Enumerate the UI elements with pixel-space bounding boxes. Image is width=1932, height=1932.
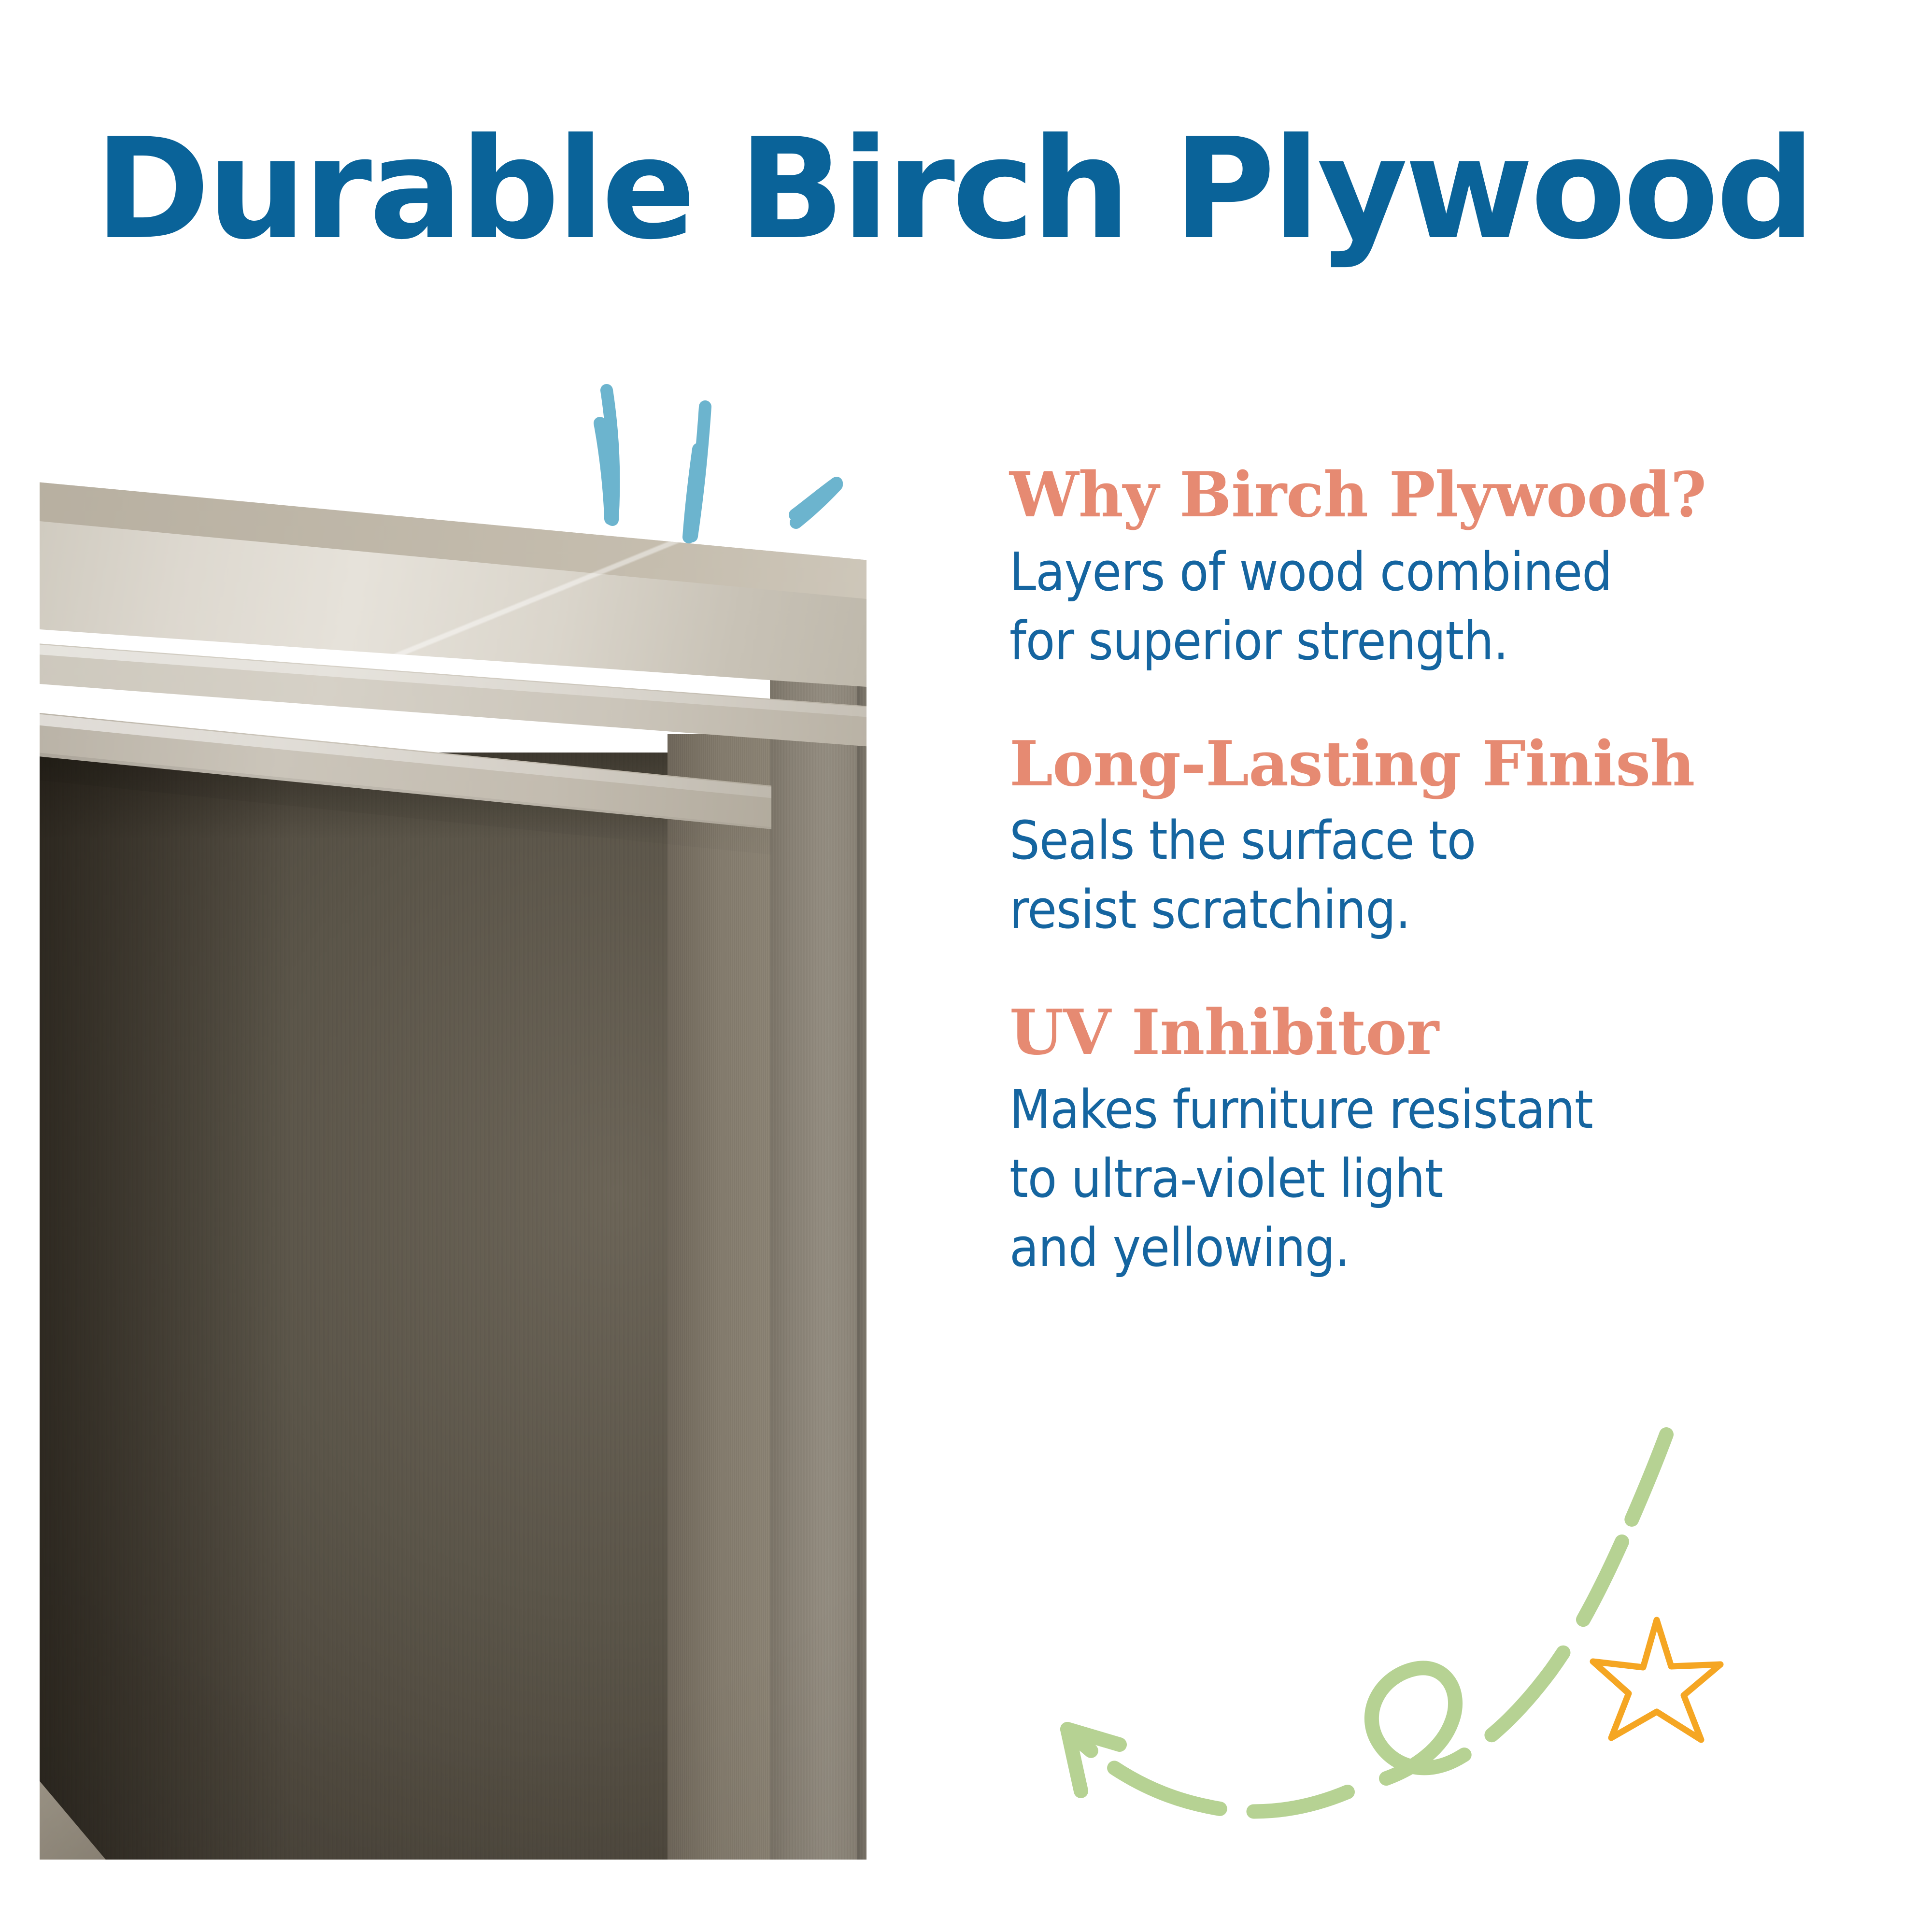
product-photo — [40, 464, 867, 1860]
sparkle-strokes-icon — [570, 382, 879, 584]
feature-body-line: Layers of wood combined — [1009, 538, 1860, 607]
feature-body: Makes furniture resistant to ultra-viole… — [1009, 1075, 1860, 1282]
cabinet-right-side-panel — [770, 609, 867, 1860]
interior-left-shadow — [40, 753, 291, 1860]
feature-heading: Long-Lasting Finish — [1009, 733, 1860, 796]
wood-grain-texture — [770, 609, 867, 1860]
feature-body-line: Seals the surface to — [1009, 806, 1860, 875]
cabinet-edge-shadow — [857, 609, 867, 1860]
feature-block-uv-inhibitor: UV Inhibitor Makes furniture resistant t… — [1009, 1001, 1860, 1282]
feature-heading: UV Inhibitor — [1009, 1001, 1860, 1065]
feature-heading: Why Birch Plywood? — [1009, 464, 1860, 527]
page-title: Durable Birch Plywood — [95, 120, 1833, 259]
feature-block-why-birch-plywood: Why Birch Plywood? Layers of wood combin… — [1009, 464, 1860, 676]
product-photo-render — [40, 464, 867, 1860]
feature-body-line: to ultra-violet light — [1009, 1144, 1860, 1213]
feature-body-line: and yellowing. — [1009, 1213, 1860, 1282]
feature-body-line: for superior strength. — [1009, 607, 1860, 676]
feature-body: Layers of wood combined for superior str… — [1009, 538, 1860, 676]
feature-body-line: resist scratching. — [1009, 875, 1860, 944]
poster-canvas: Durable Birch Plywood — [0, 0, 1932, 1932]
hand-drawn-star-icon — [1589, 1608, 1724, 1744]
feature-body: Seals the surface to resist scratching. — [1009, 806, 1860, 944]
feature-body-line: Makes furniture resistant — [1009, 1075, 1860, 1144]
feature-block-long-lasting-finish: Long-Lasting Finish Seals the surface to… — [1009, 733, 1860, 945]
features-column: Why Birch Plywood? Layers of wood combin… — [1009, 464, 1860, 1282]
